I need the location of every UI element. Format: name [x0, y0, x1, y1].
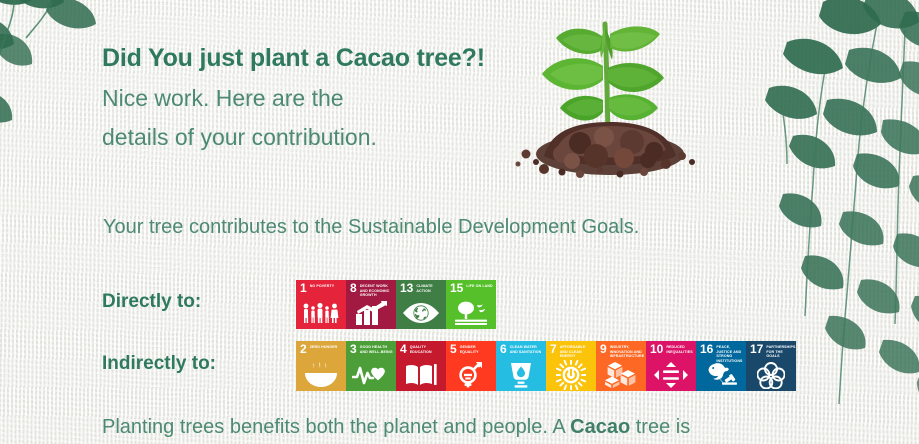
- sdg-tile-16[interactable]: 16PEACE, JUSTICE AND STRONG INSTITUTIONS: [696, 341, 746, 391]
- sdg-title: INDUSTRY, INNOVATION AND INFRASTRUCTURE: [610, 344, 645, 359]
- dove-gavel-icon: [696, 362, 746, 388]
- subtitle-line-1: Nice work. Here are the: [102, 85, 344, 112]
- sdg-title: GOOD HEALTH AND WELL-BEING: [360, 344, 394, 354]
- sdg-tile-9[interactable]: 9INDUSTRY, INNOVATION AND INFRASTRUCTURE: [596, 341, 646, 391]
- label-indirectly-to: Indirectly to:: [102, 353, 216, 375]
- sdg-tile-header: 9INDUSTRY, INNOVATION AND INFRASTRUCTURE: [600, 344, 644, 359]
- sdg-tile-header: 10REDUCED INEQUALITIES: [650, 344, 694, 354]
- sdg-title: CLEAN WATER AND SANITATION: [510, 344, 544, 354]
- growth-chart-icon: [346, 300, 396, 326]
- footer-text-before: Planting trees benefits both the planet …: [102, 416, 570, 438]
- sdg-number: 9: [600, 344, 607, 354]
- sdg-number: 6: [500, 344, 507, 354]
- sdg-title: LIFE ON LAND: [466, 283, 492, 289]
- sdg-tile-header: 3GOOD HEALTH AND WELL-BEING: [350, 344, 394, 354]
- sdg-tile-header: 7AFFORDABLE AND CLEAN ENERGY: [550, 344, 594, 359]
- tree-birds-icon: [446, 300, 496, 326]
- sdg-number: 1: [300, 283, 307, 293]
- sdg-tile-6[interactable]: 6CLEAN WATER AND SANITATION: [496, 341, 546, 391]
- sdg-title: GENDER EQUALITY: [460, 344, 494, 354]
- cubes-icon: [596, 362, 646, 388]
- sdg-intro-text: Your tree contributes to the Sustainable…: [103, 216, 639, 239]
- sdg-number: 4: [400, 344, 407, 354]
- sdg-title: AFFORDABLE AND CLEAN ENERGY: [560, 344, 594, 359]
- sdg-title: QUALITY EDUCATION: [410, 344, 444, 354]
- footer-description: Planting trees benefits both the planet …: [102, 416, 690, 439]
- sdg-tile-header: 2ZERO HUNGER: [300, 344, 344, 354]
- sdg-number: 2: [300, 344, 307, 354]
- page-title: Did You just plant a Cacao tree?!: [102, 44, 485, 73]
- sdg-number: 8: [350, 283, 357, 293]
- sdg-number: 3: [350, 344, 357, 354]
- gender-equality-icon: [446, 362, 496, 388]
- sdg-tile-10[interactable]: 10REDUCED INEQUALITIES: [646, 341, 696, 391]
- sdg-tile-13[interactable]: 13CLIMATE ACTION: [396, 280, 446, 329]
- sdg-title: REDUCED INEQUALITIES: [666, 344, 694, 354]
- sdg-tile-header: 8DECENT WORK AND ECONOMIC GROWTH: [350, 283, 394, 298]
- sdg-tile-17[interactable]: 17PARTNERSHIPS FOR THE GOALS: [746, 341, 796, 391]
- sdg-title: DECENT WORK AND ECONOMIC GROWTH: [360, 283, 394, 298]
- sdg-tile-header: 13CLIMATE ACTION: [400, 283, 444, 293]
- equal-arrows-icon: [646, 362, 696, 388]
- sdg-tile-5[interactable]: 5GENDER EQUALITY: [446, 341, 496, 391]
- sdg-number: 7: [550, 344, 557, 354]
- eye-globe-icon: [396, 300, 446, 326]
- steaming-bowl-icon: [296, 362, 346, 388]
- footer-species-name: Cacao: [570, 416, 630, 438]
- sdg-tile-header: 5GENDER EQUALITY: [450, 344, 494, 354]
- sdg-row-indirect: 2ZERO HUNGER3GOOD HEALTH AND WELL-BEING4…: [296, 341, 796, 391]
- subtitle-line-2: details of your contribution.: [102, 124, 377, 151]
- sdg-tile-header: 16PEACE, JUSTICE AND STRONG INSTITUTIONS: [700, 344, 744, 363]
- label-directly-to: Directly to:: [102, 291, 201, 313]
- sdg-number: 17: [750, 344, 763, 354]
- sdg-title: NO POVERTY: [310, 283, 335, 289]
- sdg-tile-15[interactable]: 15LIFE ON LAND: [446, 280, 496, 329]
- sdg-title: CLIMATE ACTION: [416, 283, 444, 293]
- sdg-title: PEACE, JUSTICE AND STRONG INSTITUTIONS: [716, 344, 744, 363]
- sdg-tile-header: 4QUALITY EDUCATION: [400, 344, 444, 354]
- sun-power-icon: [546, 362, 596, 388]
- open-book-icon: [396, 362, 446, 388]
- footer-text-after: tree is: [630, 416, 690, 438]
- sdg-tile-header: 1NO POVERTY: [300, 283, 344, 293]
- sdg-number: 5: [450, 344, 457, 354]
- sdg-tile-8[interactable]: 8DECENT WORK AND ECONOMIC GROWTH: [346, 280, 396, 329]
- sdg-tile-1[interactable]: 1NO POVERTY: [296, 280, 346, 329]
- family-icon: [296, 300, 346, 326]
- sdg-tile-header: 15LIFE ON LAND: [450, 283, 494, 293]
- sdg-number: 13: [400, 283, 413, 293]
- sdg-tile-7[interactable]: 7AFFORDABLE AND CLEAN ENERGY: [546, 341, 596, 391]
- sdg-tile-4[interactable]: 4QUALITY EDUCATION: [396, 341, 446, 391]
- sdg-title: PARTNERSHIPS FOR THE GOALS: [766, 344, 795, 359]
- heartbeat-icon: [346, 362, 396, 388]
- interlocked-circles-icon: [746, 362, 796, 388]
- sdg-number: 16: [700, 344, 713, 354]
- water-drop-glass-icon: [496, 362, 546, 388]
- sdg-title: ZERO HUNGER: [310, 344, 338, 350]
- sdg-tile-header: 17PARTNERSHIPS FOR THE GOALS: [750, 344, 794, 359]
- sdg-tile-3[interactable]: 3GOOD HEALTH AND WELL-BEING: [346, 341, 396, 391]
- sdg-tile-2[interactable]: 2ZERO HUNGER: [296, 341, 346, 391]
- sdg-row-direct: 1NO POVERTY8DECENT WORK AND ECONOMIC GRO…: [296, 280, 496, 329]
- sdg-tile-header: 6CLEAN WATER AND SANITATION: [500, 344, 544, 354]
- sdg-number: 10: [650, 344, 663, 354]
- sdg-number: 15: [450, 283, 463, 293]
